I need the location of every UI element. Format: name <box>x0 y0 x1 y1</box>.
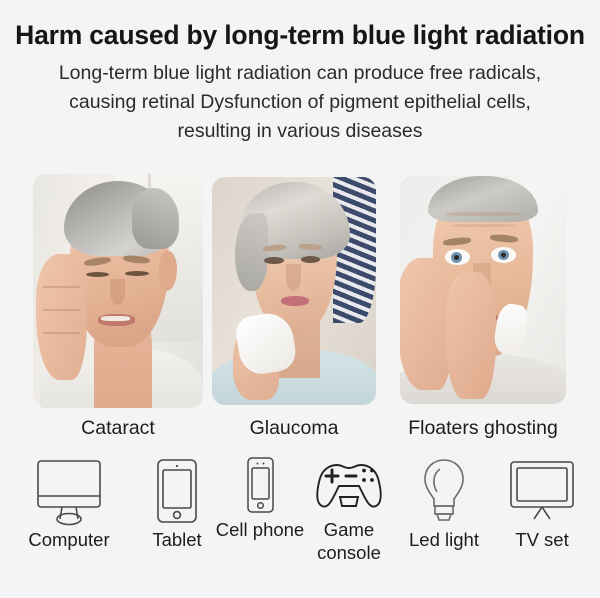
device-label-tablet: Tablet <box>128 528 226 551</box>
device-label-game-console: Game console <box>298 518 400 564</box>
condition-caption-row: Cataract Glaucoma Floaters ghosting <box>0 416 600 446</box>
device-label-tv-set: TV set <box>490 528 594 551</box>
device-label-cell-phone: Cell phone <box>214 518 306 541</box>
device-item-led-light: Led light <box>396 456 492 551</box>
page-subtitle: Long-term blue light radiation can produ… <box>40 59 560 146</box>
subtitle-line-2: causing retinal Dysfunction of pigment e… <box>40 88 560 117</box>
device-item-game-console: Game console <box>298 456 400 564</box>
cell-phone-icon <box>214 456 306 518</box>
device-label-computer: Computer <box>10 528 128 551</box>
monitor-icon <box>10 456 128 528</box>
condition-card-cataract <box>33 174 203 408</box>
blue-light-harm-infographic: Harm caused by long-term blue light radi… <box>0 0 600 598</box>
condition-card-glaucoma <box>212 177 376 405</box>
glaucoma-photo <box>212 177 376 405</box>
light-bulb-icon <box>396 456 492 528</box>
device-icon-row: Computer Tablet <box>0 452 600 598</box>
subtitle-line-1: Long-term blue light radiation can produ… <box>40 59 560 88</box>
subtitle-line-3: resulting in various diseases <box>40 117 560 146</box>
caption-glaucoma: Glaucoma <box>212 416 376 440</box>
floaters-ghosting-photo <box>400 176 566 404</box>
condition-card-floaters-ghosting <box>400 176 566 404</box>
condition-photo-row <box>0 172 600 410</box>
header: Harm caused by long-term blue light radi… <box>0 0 600 146</box>
device-item-tablet: Tablet <box>128 456 226 551</box>
tablet-icon <box>128 456 226 528</box>
cataract-photo <box>33 174 203 408</box>
page-title: Harm caused by long-term blue light radi… <box>0 19 600 51</box>
caption-floaters-ghosting: Floaters ghosting <box>398 416 568 440</box>
game-controller-icon <box>298 456 400 518</box>
device-item-tv-set: TV set <box>490 456 594 551</box>
device-item-cell-phone: Cell phone <box>214 456 306 541</box>
device-item-computer: Computer <box>10 456 128 551</box>
tv-icon <box>490 456 594 528</box>
caption-cataract: Cataract <box>33 416 203 440</box>
device-label-led-light: Led light <box>396 528 492 551</box>
